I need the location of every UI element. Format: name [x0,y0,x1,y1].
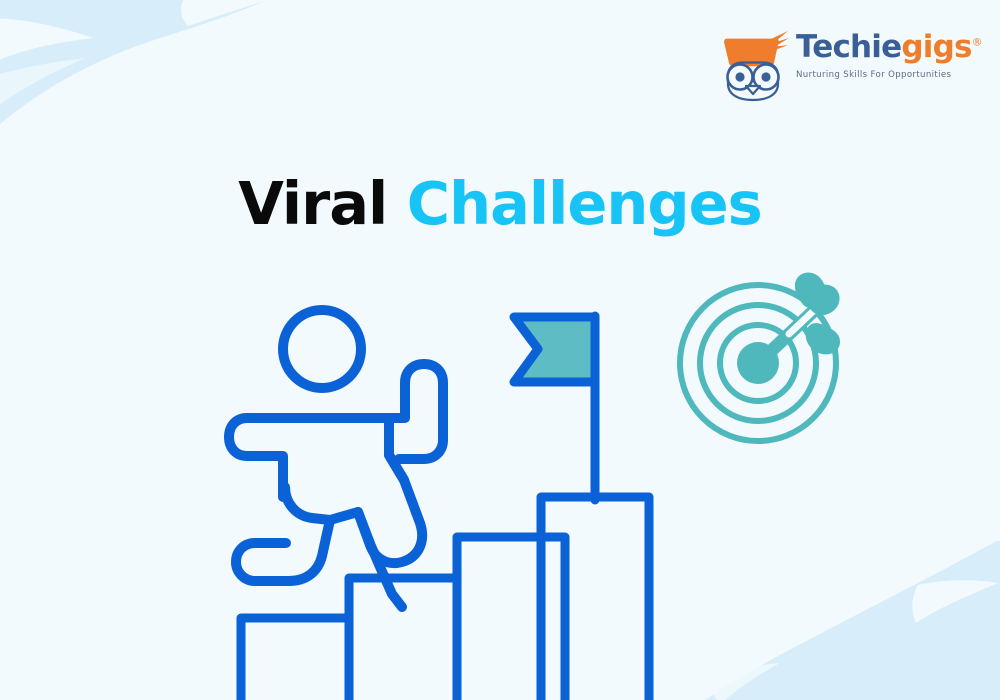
goal-flag-icon [514,316,595,500]
bar-step-4 [541,497,649,700]
target-dartboard-icon [680,272,840,441]
bar-step-2 [349,578,457,700]
bar-step-1 [241,618,349,700]
bar-step-3 [457,537,565,700]
poster-canvas: Techiegigs® Nurturing Skills For Opportu… [0,0,1000,700]
hero-illustration [0,0,1000,700]
climbing-person-icon [229,310,443,607]
